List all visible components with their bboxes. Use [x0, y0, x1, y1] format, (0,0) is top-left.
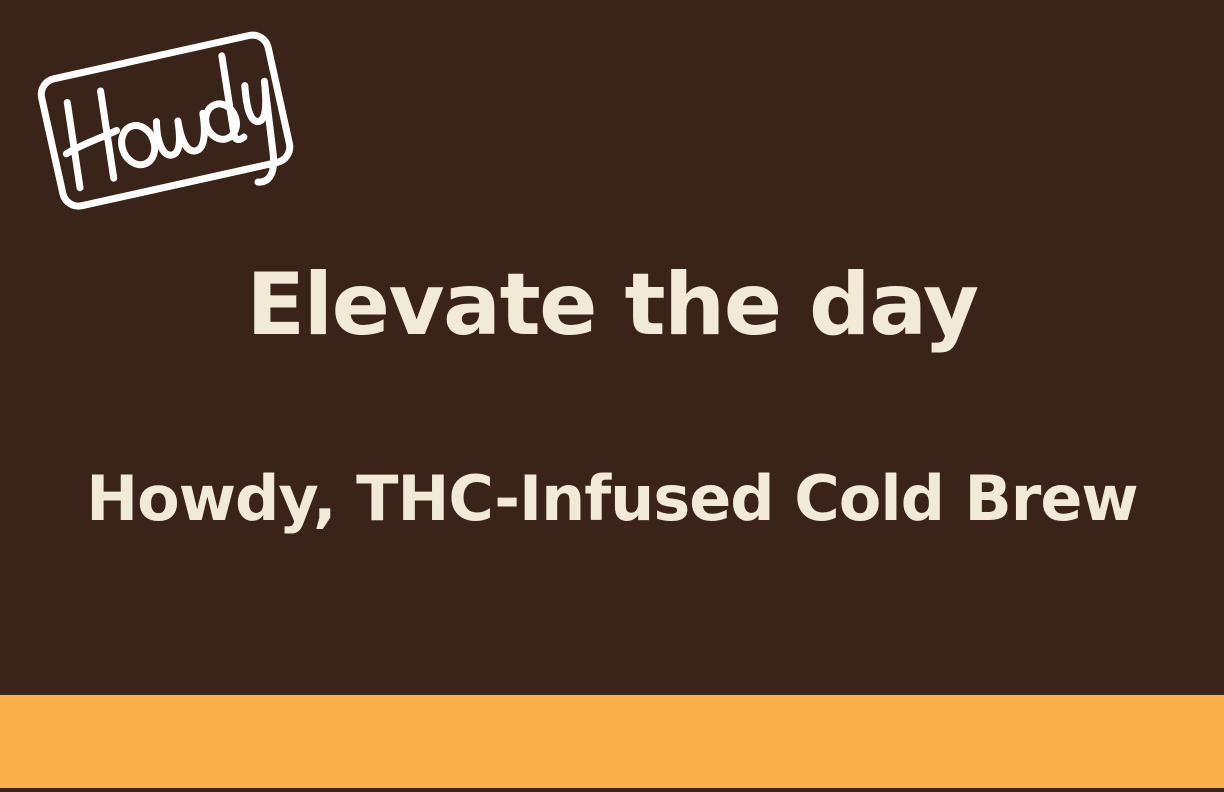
footer-bottom-rule [0, 788, 1224, 792]
page-subtitle: Howdy, THC-Infused Cold Brew [0, 468, 1224, 530]
howdy-script-badge-icon [24, 8, 304, 238]
footer-accent-band [0, 695, 1224, 788]
page-title: Elevate the day [0, 262, 1224, 348]
brand-logo[interactable] [24, 8, 304, 238]
slide-canvas: Elevate the day Howdy, THC-Infused Cold … [0, 0, 1224, 792]
